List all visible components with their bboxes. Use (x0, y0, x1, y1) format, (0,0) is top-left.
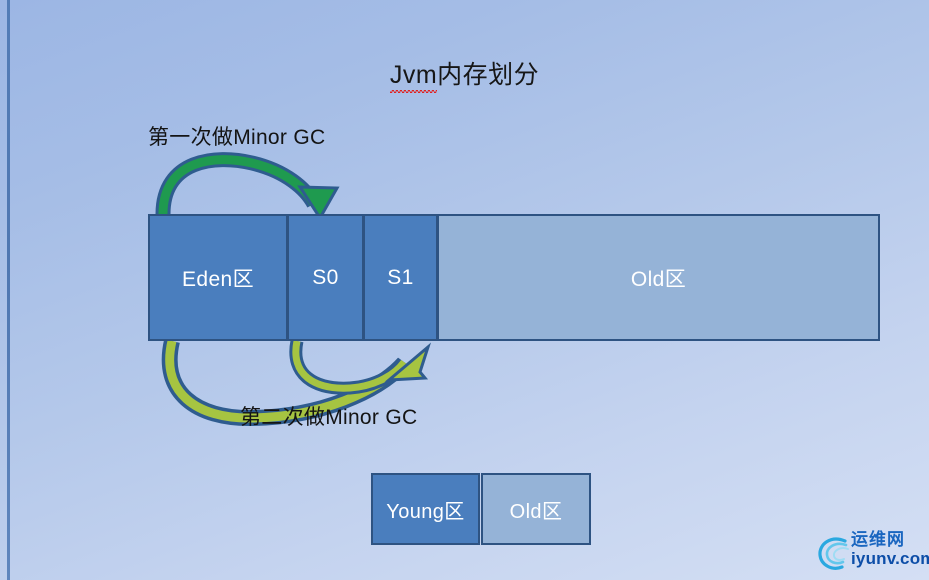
heap-region-s0-label: S0 (312, 266, 339, 290)
summary-region-young-label: Young区 (386, 495, 464, 524)
title-remainder: 内存划分 (437, 61, 539, 89)
arrow-eden-to-s0-first-gc (163, 160, 337, 218)
heap-region-s0[interactable]: S0 (287, 214, 364, 341)
heap-region-eden[interactable]: Eden区 (148, 214, 288, 341)
slide-canvas: Jvm内存划分 第一次做Minor GC 第二次做Minor GC Eden区 … (0, 0, 929, 580)
page-title: Jvm内存划分 (0, 55, 929, 91)
watermark-cn-label: 运维网 (851, 531, 929, 548)
title-misspelled-word: Jvm (390, 61, 437, 90)
site-watermark: 运维网 iyunv.com (815, 531, 925, 575)
label-first-minor-gc: 第一次做Minor GC (148, 121, 325, 151)
arrow-s0-to-s1-second-gc (296, 341, 428, 388)
summary-region-young[interactable]: Young区 (371, 473, 480, 545)
summary-region-old[interactable]: Old区 (481, 473, 591, 545)
label-second-minor-gc: 第二次做Minor GC (240, 401, 417, 431)
heap-region-old-label: Old区 (631, 263, 686, 293)
watermark-text: 运维网 iyunv.com (851, 531, 929, 567)
watermark-en-label: iyunv.com (851, 550, 929, 567)
heap-region-eden-label: Eden区 (182, 263, 254, 293)
heap-region-s1[interactable]: S1 (363, 214, 438, 341)
summary-region-old-label: Old区 (510, 495, 563, 524)
heap-region-old[interactable]: Old区 (437, 214, 880, 341)
heap-region-s1-label: S1 (387, 266, 414, 290)
swirl-logo-icon (815, 531, 855, 573)
